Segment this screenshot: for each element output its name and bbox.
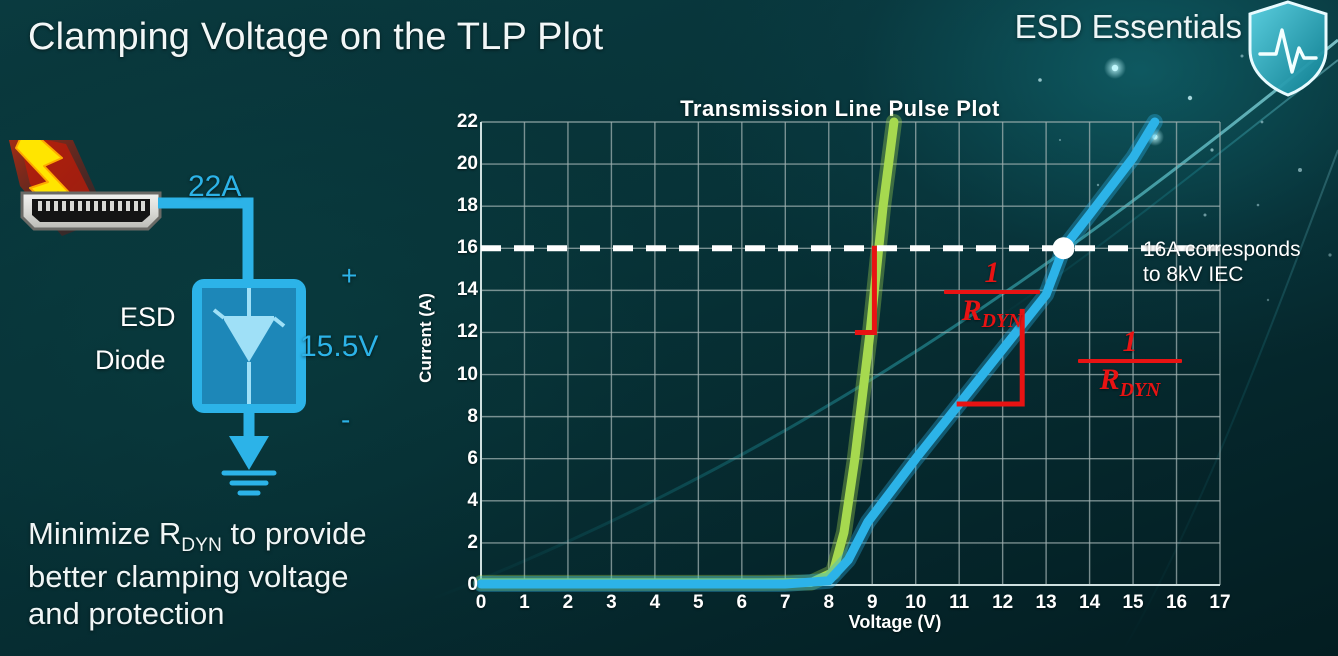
x-axis-tick: 13 xyxy=(1036,592,1057,614)
x-axis-tick: 4 xyxy=(650,592,661,614)
y-axis-tick: 18 xyxy=(438,195,478,217)
y-axis-tick: 12 xyxy=(438,321,478,343)
x-axis-tick: 3 xyxy=(606,592,617,614)
y-axis-tick: 10 xyxy=(438,364,478,386)
shield-pulse-icon xyxy=(1242,0,1334,100)
operating-point-marker xyxy=(1053,237,1075,259)
note-line2: better clamping voltage xyxy=(28,559,349,594)
series-glow xyxy=(481,122,894,583)
y-axis-tick: 6 xyxy=(438,448,478,470)
x-axis-tick: 10 xyxy=(905,592,926,614)
rdyn-numerator: 1 xyxy=(1078,327,1182,357)
note-line1-a: Minimize R xyxy=(28,516,181,551)
esd-label-line1: ESD xyxy=(120,302,176,333)
page-title: Clamping Voltage on the TLP Plot xyxy=(28,16,603,59)
x-axis-tick: 17 xyxy=(1209,592,1230,614)
x-axis-tick: 14 xyxy=(1079,592,1100,614)
esd-label-line2: Diode xyxy=(95,345,166,376)
series-line xyxy=(481,122,1155,584)
iec-callout-line1: 16A corresponds xyxy=(1143,238,1301,261)
series-glow xyxy=(481,122,1155,584)
x-axis-tick: 11 xyxy=(949,592,969,614)
rdyn-numerator: 1 xyxy=(944,258,1040,288)
series-line xyxy=(481,122,894,583)
x-axis-label: Voltage (V) xyxy=(849,612,942,633)
x-axis-tick: 9 xyxy=(867,592,878,614)
x-axis-tick: 1 xyxy=(519,592,530,614)
chart-title: Transmission Line Pulse Plot xyxy=(630,96,1050,122)
polarity-minus: - xyxy=(341,404,350,436)
note-line3: and protection xyxy=(28,596,224,631)
slide-canvas: Clamping Voltage on the TLP Plot ESD Ess… xyxy=(0,0,1338,656)
ground-symbol-icon xyxy=(224,473,274,493)
note-line1-b: to provide xyxy=(222,516,367,551)
x-axis-tick: 16 xyxy=(1166,592,1187,614)
polarity-plus: + xyxy=(341,260,357,292)
x-axis-tick: 7 xyxy=(780,592,791,614)
rdyn-annotation-blue: 1 RDYN xyxy=(1078,327,1182,401)
tlp-chart: Transmission Line Pulse Plot Current (A)… xyxy=(420,88,1320,648)
x-axis-tick: 15 xyxy=(1122,592,1143,614)
y-axis-tick: 8 xyxy=(438,406,478,428)
hdmi-connector-icon xyxy=(22,193,160,229)
note-line1-sub: DYN xyxy=(181,516,222,551)
voltage-label: 15.5V xyxy=(300,330,378,364)
x-axis-tick: 8 xyxy=(823,592,834,614)
fraction-bar xyxy=(944,290,1040,294)
y-axis-tick: 2 xyxy=(438,532,478,554)
rdyn-annotation-green: 1 RDYN xyxy=(944,258,1040,332)
rdyn-denominator: RDYN xyxy=(944,295,1040,332)
y-axis-tick: 16 xyxy=(438,237,478,259)
y-axis-tick: 14 xyxy=(438,279,478,301)
x-axis-tick: 0 xyxy=(476,592,487,614)
x-axis-tick: 2 xyxy=(563,592,574,614)
circuit-wire xyxy=(158,203,248,280)
current-label: 22A xyxy=(188,170,241,204)
y-axis-label: Current (A) xyxy=(416,293,436,383)
y-axis-tick: 0 xyxy=(438,574,478,596)
summary-note: Minimize RDYN to provide better clamping… xyxy=(28,515,448,633)
rdyn-denominator: RDYN xyxy=(1078,364,1182,401)
y-axis-tick: 20 xyxy=(438,153,478,175)
iec-callout-line2: to 8kV IEC xyxy=(1143,263,1243,286)
x-axis-tick: 12 xyxy=(992,592,1013,614)
x-axis-tick: 5 xyxy=(693,592,704,614)
y-axis-tick: 4 xyxy=(438,490,478,512)
brand-label: ESD Essentials xyxy=(1015,8,1242,46)
x-axis-tick: 6 xyxy=(737,592,748,614)
iec-callout: 16A corresponds to 8kV IEC xyxy=(1143,238,1338,288)
fraction-bar xyxy=(1078,359,1182,363)
y-axis-tick: 22 xyxy=(438,111,478,133)
